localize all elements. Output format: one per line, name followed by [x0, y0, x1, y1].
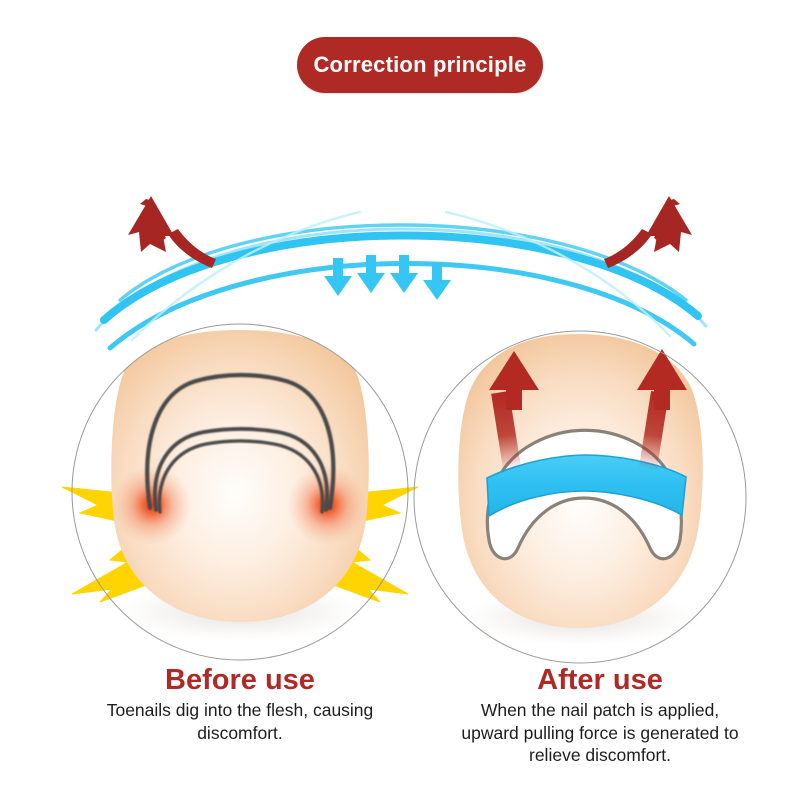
down-arrow-2 [357, 255, 385, 293]
caption-before-line-2: discomfort. [40, 722, 440, 744]
caption-before-heading: Before use [40, 665, 440, 695]
lift-arrow-left [128, 196, 216, 268]
caption-after-line-2: upward pulling force is generated to [400, 722, 800, 744]
down-arrow-3 [390, 255, 418, 293]
caption-after: After use When the nail patch is applied… [400, 665, 800, 767]
caption-after-heading: After use [400, 665, 800, 695]
inflammation-left [112, 465, 192, 545]
panel-before-illustration [62, 324, 418, 660]
caption-before-line-1: Toenails dig into the flesh, causing [40, 699, 440, 721]
lift-arrow-right [604, 196, 692, 268]
caption-before: Before use Toenails dig into the flesh, … [40, 665, 440, 744]
caption-after-line-1: When the nail patch is applied, [400, 699, 800, 721]
infographic-root: Correction principle [0, 0, 800, 800]
down-arrow-4 [423, 262, 451, 300]
caption-after-line-3: relieve discomfort. [400, 744, 800, 766]
panel-after-illustration [414, 331, 746, 663]
